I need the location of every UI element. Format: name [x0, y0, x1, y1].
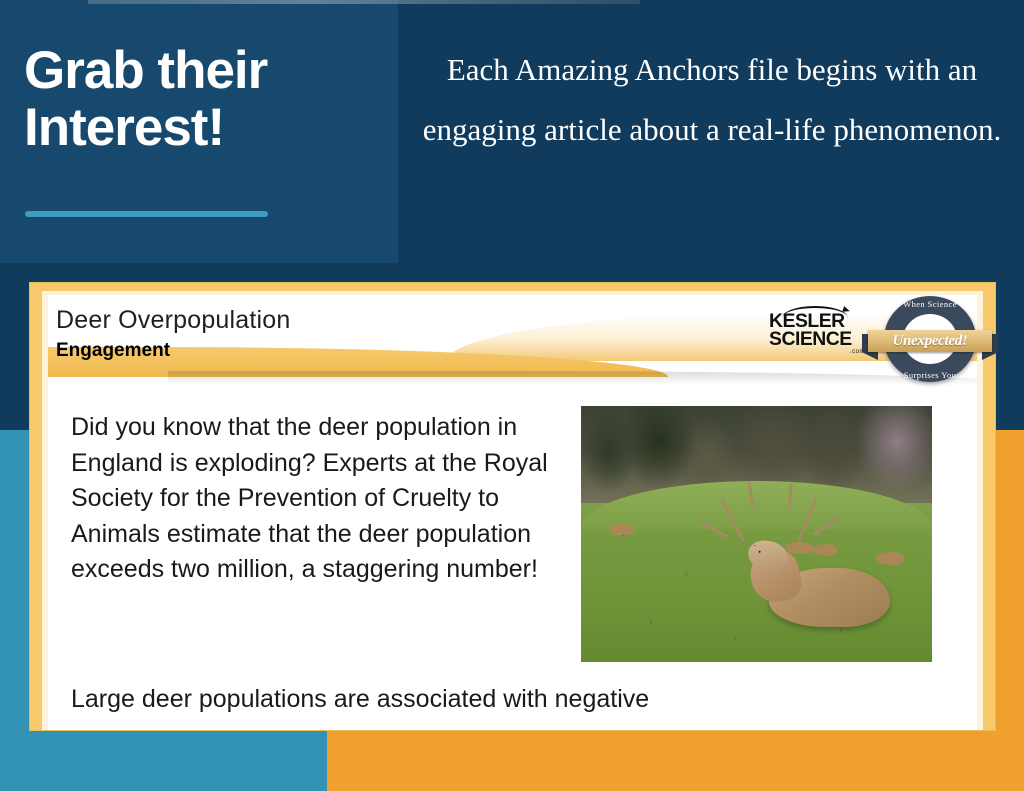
stag-eye: [754, 546, 756, 547]
page-title: Grab their Interest!: [24, 42, 394, 156]
document-body-paragraph-2: Large deer populations are associated wi…: [71, 682, 951, 718]
accent-block-orange-bottom: [327, 722, 1024, 791]
top-divider-line: [88, 0, 640, 4]
document-subtitle: Engagement: [56, 340, 170, 362]
paragraph-1: Did you know that the deer population in…: [71, 410, 571, 588]
photo-background-deer: [609, 524, 634, 536]
document-title: Deer Overpopulation: [56, 306, 291, 335]
stag-nose: [758, 551, 761, 553]
headline-line-2: Interest!: [24, 99, 394, 156]
swoosh-shadow: [168, 371, 977, 385]
photo-stag: [735, 529, 889, 631]
badge-ribbon-text: Unexpected!: [892, 333, 967, 350]
badge-ribbon: Unexpected!: [868, 330, 992, 352]
headline-underline: [25, 211, 268, 217]
intro-paragraph: Each Amazing Anchors file begins with an…: [420, 40, 1004, 161]
headline-line-1: Grab their: [24, 42, 394, 99]
document-body-paragraph-1: Did you know that the deer population in…: [71, 410, 571, 588]
badge-arc-bottom-text: Surprises You: [904, 370, 956, 380]
kesler-science-logo: KESLER SCIENCE .com: [770, 313, 865, 363]
slide-canvas: Grab their Interest! Each Amazing Anchor…: [0, 0, 1024, 791]
logo-line-2: SCIENCE: [769, 331, 866, 349]
paragraph-2: Large deer populations are associated wi…: [71, 682, 951, 718]
unexpected-badge: When Science Surprises You Unexpected!: [874, 290, 986, 387]
deer-photo: [581, 406, 932, 662]
